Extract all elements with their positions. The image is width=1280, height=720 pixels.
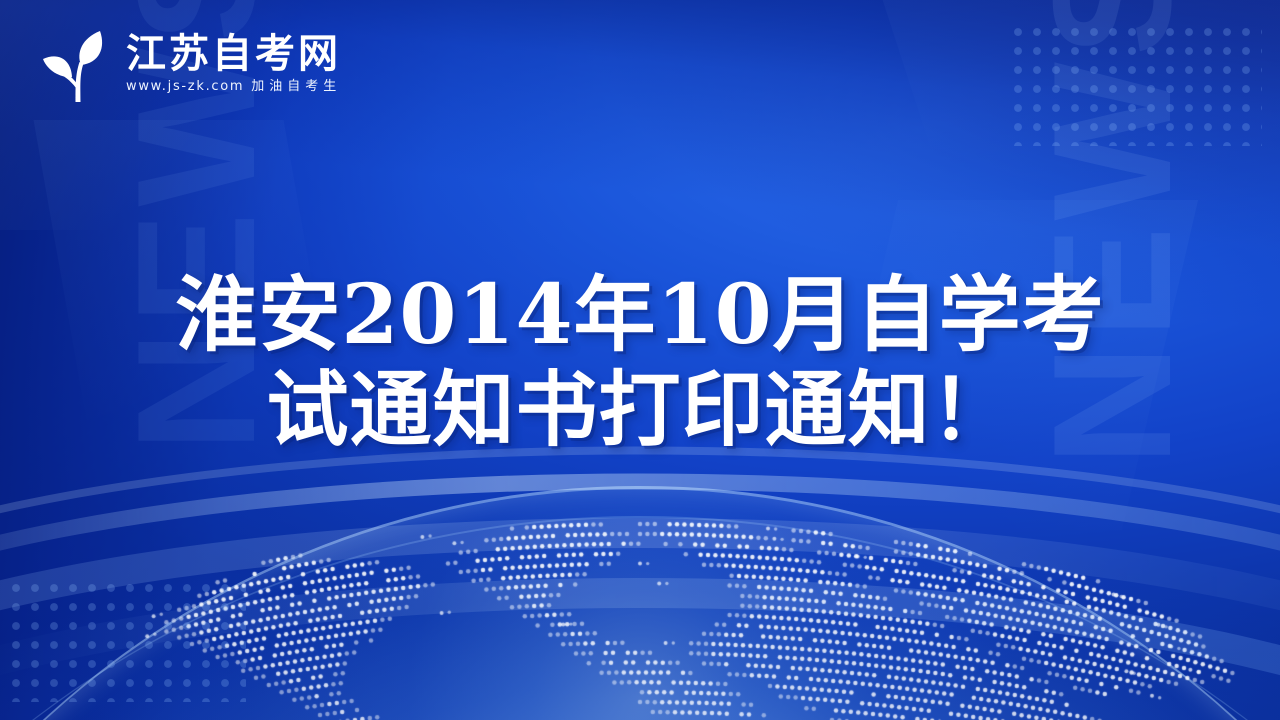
headline-line-2: 试通知书打印通知！ [90,363,1190,458]
headline-line-1: 淮安2014年10月自学考 [90,268,1190,363]
logo-title: 江苏自考网 [126,33,341,75]
headline-block: 淮安2014年10月自学考 试通知书打印通知！ [0,268,1280,458]
news-banner: NEWS NEWS [0,0,1280,720]
logo-tagline: www.js-zk.com加油自考生 [126,80,341,93]
logo-tagline-url: www.js-zk.com [126,79,244,94]
dot-grid-bottom-left [12,584,246,702]
sprout-leaf-icon [34,22,112,104]
site-logo[interactable]: 江苏自考网 www.js-zk.com加油自考生 [34,22,341,104]
logo-tagline-slogan: 加油自考生 [251,79,341,94]
